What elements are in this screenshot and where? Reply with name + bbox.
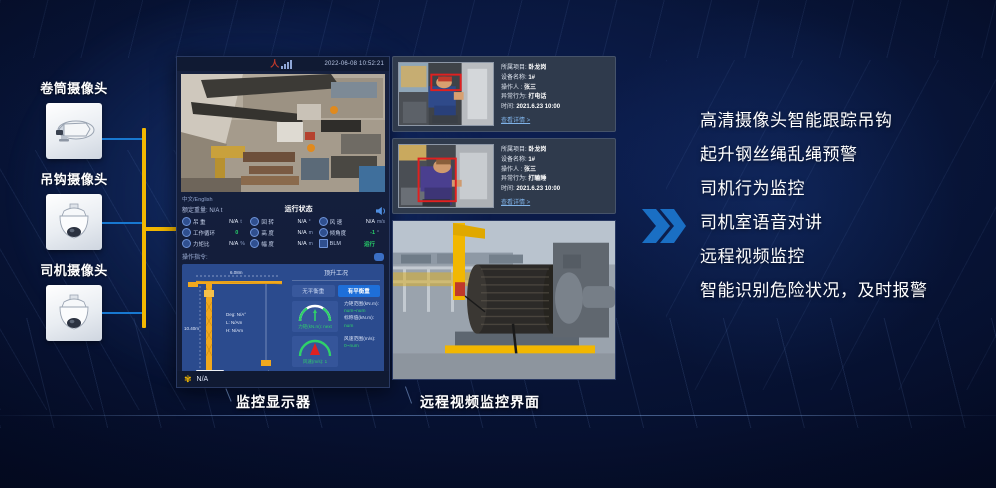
metric-unit: t: [240, 219, 247, 225]
alert-row-operator: 操作人 : 张三: [501, 84, 610, 94]
alert-row-project: 所属项目: 卧龙岗: [501, 64, 610, 74]
alert-info: 所属项目: 卧龙岗 设备名称: 1# 操作人 : 张三 异常行为: 打电话 时间…: [494, 62, 610, 126]
alert-label: 所属项目:: [501, 65, 527, 71]
amplitude-icon: [250, 239, 259, 248]
metric-unit: m: [309, 241, 316, 247]
alert-label: 设备名称:: [501, 75, 527, 81]
cycle-icon: [182, 228, 191, 237]
torque-gauge-caption: 力矩(kN.m): next: [298, 324, 332, 330]
metric-unit: m: [309, 230, 316, 236]
metric-label: 高 度: [261, 229, 274, 237]
tilt-icon: [319, 228, 328, 237]
alert-value: 卧龙岗: [528, 65, 546, 71]
alert-label: 操作人 :: [501, 85, 522, 91]
metric-item: 倾角度 -1 °: [319, 228, 384, 237]
wind-gauge-caption: 风速(m/s): 1: [303, 359, 327, 365]
footer-text: N/A: [197, 376, 209, 383]
rated-weight-value: N/A: [209, 208, 219, 214]
alert-value: 2021.6.23 10:00: [516, 104, 560, 110]
language-toggle[interactable]: 中文/English: [182, 195, 384, 203]
wind-gauge: 风速(m/s): 1: [292, 336, 338, 367]
wind-range-meta: 风速范围(m/s): 0~num: [341, 336, 380, 367]
camera-item-driver[interactable]: 司机摄像头: [18, 260, 130, 341]
metric-unit: %: [240, 241, 247, 247]
torque-range-meta: 力矩范围(kN.m): num~num 标称值(kN.m): num: [341, 301, 380, 332]
metric-label: 力矩比: [193, 240, 210, 248]
alert-row-behavior: 异常行为: 打电话: [501, 93, 610, 103]
alert-card[interactable]: 所属项目: 卧龙岗 设备名称: 1# 操作人 : 张三 异常行为: 打瞌睡 时间…: [392, 138, 616, 214]
height-label: 10.40m: [184, 326, 199, 331]
alert-label: 异常行为:: [501, 176, 527, 182]
cab-snapshot-phone[interactable]: [398, 62, 494, 126]
metric-label: BLM: [330, 241, 341, 247]
metric-value: 0: [235, 230, 238, 236]
background-grid-top: [0, 0, 996, 58]
dome-camera-icon: [46, 285, 102, 341]
monitor-statusbar: 人 2022-06-08 10:52:21: [177, 57, 389, 71]
alert-detail-link[interactable]: 查看详情 >: [501, 197, 610, 206]
height-value-label: H: N/Am: [226, 328, 243, 333]
metric-item: BLM 运行: [319, 239, 384, 248]
winch-drum-video[interactable]: [392, 220, 616, 380]
alert-label: 时间:: [501, 104, 515, 110]
connector-bus-horizontal: [142, 227, 178, 231]
cab-snapshot-drowsy[interactable]: [398, 144, 494, 208]
ratio-icon: [182, 239, 191, 248]
message-icon[interactable]: [374, 253, 384, 261]
person-icon: 人: [270, 60, 279, 69]
alert-label: 时间:: [501, 186, 515, 192]
metric-value: N/A: [229, 241, 238, 247]
metric-unit: m/s: [377, 219, 384, 225]
alert-label: 所属项目:: [501, 147, 527, 153]
metric-item: 回 转 N/A °: [250, 217, 315, 226]
hook-icon: [182, 217, 191, 226]
alert-row-device: 设备名称: 1#: [501, 156, 610, 166]
camera-title: 卷筒摄像头: [18, 78, 130, 97]
wind-gauge-row: 风速(m/s): 1 风速范围(m/s): 0~num: [292, 336, 380, 367]
connector-line-driver: [102, 312, 144, 314]
metric-label: 吊 重: [193, 218, 206, 226]
monitor-timestamp: 2022-06-08 10:52:21: [324, 61, 384, 67]
alert-value: 张三: [524, 167, 536, 173]
feature-item: 司机行为监控: [700, 180, 990, 197]
tab-no-counterweight[interactable]: 无平衡重: [292, 285, 335, 297]
feature-item: 智能识别危险状况，及时报警: [700, 282, 990, 299]
metric-item: 幅 度 N/A m: [250, 239, 315, 248]
gear-icon[interactable]: ✾: [184, 375, 192, 384]
alert-row-device: 设备名称: 1#: [501, 74, 610, 84]
wind-icon: [319, 217, 328, 226]
tab-with-counterweight[interactable]: 有平衡重: [338, 285, 381, 297]
alert-value: 张三: [524, 85, 536, 91]
metric-value: N/A: [297, 241, 306, 247]
wind-range-value: 0~num: [344, 343, 380, 350]
wind-range-title: 风速范围(m/s):: [344, 336, 380, 343]
alert-value: 1#: [528, 157, 535, 163]
metric-label: 工作循环: [193, 229, 215, 237]
alert-card[interactable]: 所属项目: 卧龙岗 设备名称: 1# 操作人 : 张三 异常行为: 打电话 时间…: [392, 56, 616, 132]
alert-value: 2021.6.23 10:00: [516, 186, 560, 192]
monitor-command-row: 操作指令:: [182, 252, 384, 261]
camera-item-hook[interactable]: 吊钩摄像头: [18, 169, 130, 250]
angle-icon: [250, 217, 259, 226]
torque-range-value: num~num: [344, 308, 380, 315]
metric-item: 风 速 N/A m/s: [319, 217, 384, 226]
site-camera-feed[interactable]: [181, 74, 385, 192]
double-chevron-right-icon: [640, 205, 686, 247]
alert-label: 异常行为:: [501, 94, 527, 100]
alert-label: 操作人 :: [501, 167, 522, 173]
span-label: 6.08m: [230, 270, 243, 275]
camera-title: 吊钩摄像头: [18, 169, 130, 188]
divider: [292, 280, 380, 281]
torque-range-title: 力矩范围(kN.m):: [344, 301, 380, 308]
monitor-subheader: 额定重量: N/A t 运行状态: [182, 204, 384, 214]
crane-schematic: 6.08m: [182, 264, 290, 382]
status-section-title: 运行状态: [285, 204, 313, 214]
monitor-status-panel: 中文/English 额定重量: N/A t 运行状态: [177, 192, 389, 248]
counterweight-tabs: 无平衡重 有平衡重: [292, 285, 380, 297]
scene: 卷筒摄像头 吊钩摄像头: [0, 0, 996, 488]
monitor-display[interactable]: 人 2022-06-08 10:52:21: [176, 56, 390, 388]
alert-row-project: 所属项目: 卧龙岗: [501, 146, 610, 156]
alert-detail-link[interactable]: 查看详情 >: [501, 115, 610, 124]
alert-label: 设备名称:: [501, 157, 527, 163]
speaker-icon[interactable]: [375, 206, 384, 213]
camera-item-drum[interactable]: 卷筒摄像头: [18, 78, 130, 159]
alert-value: 打电话: [528, 94, 546, 100]
blm-icon: [319, 239, 328, 248]
height-icon: [250, 228, 259, 237]
metric-item: 高 度 N/A m: [250, 228, 315, 237]
alert-row-behavior: 异常行为: 打瞌睡: [501, 175, 610, 185]
connector-line-hook: [102, 222, 144, 224]
metric-value: 运行: [364, 240, 375, 248]
rated-weight-unit: t: [221, 208, 223, 214]
rated-weight-label: 额定重量:: [182, 208, 208, 214]
caption-monitor: 监控显示器: [236, 392, 311, 412]
metric-item: 力矩比 N/A %: [182, 239, 247, 248]
metric-label: 倾角度: [330, 229, 347, 237]
metric-label: 回 转: [261, 218, 274, 226]
torque-gauge-row: 力矩(kN.m): next 力矩范围(kN.m): num~num 标称值(k…: [292, 301, 380, 332]
torque-nominal-value: num: [344, 323, 380, 330]
feature-item: 高清摄像头智能跟踪吊钩: [700, 112, 990, 129]
metric-value: N/A: [297, 230, 306, 236]
metric-value: N/A: [366, 219, 375, 225]
feature-item: 起升钢丝绳乱绳预警: [700, 146, 990, 163]
dome-camera-icon: [46, 194, 102, 250]
alert-row-time: 时间: 2021.6.23 10:00: [501, 185, 610, 195]
torque-gauge: 力矩(kN.m): next: [292, 301, 338, 332]
box-camera-icon: [46, 103, 102, 159]
feature-item: 远程视频监控: [700, 248, 990, 265]
caption-remote: 远程视频监控界面: [420, 392, 540, 412]
background-horizon-line: [0, 415, 996, 416]
feature-list: 高清摄像头智能跟踪吊钩 起升钢丝绳乱绳预警 司机行为监控 司机室语音对讲 远程视…: [700, 112, 990, 316]
alert-row-time: 时间: 2021.6.23 10:00: [501, 103, 610, 113]
length-label: L: N/Am: [226, 320, 243, 325]
crane-diagram-panel[interactable]: 6.08m: [182, 264, 384, 382]
alert-value: 打瞌睡: [528, 176, 546, 182]
lifting-condition-panel: 顶升工况 无平衡重 有平衡重 力矩(: [290, 264, 384, 382]
metric-item: 吊 重 N/A t: [182, 217, 247, 226]
feature-item: 司机室语音对讲: [700, 214, 990, 231]
camera-list: 卷筒摄像头 吊钩摄像头: [18, 78, 130, 351]
alert-value: 卧龙岗: [528, 147, 546, 153]
alert-row-operator: 操作人 : 张三: [501, 166, 610, 176]
command-label: 操作指令:: [182, 252, 208, 261]
lifting-panel-title: 顶升工况: [292, 268, 380, 277]
alert-info: 所属项目: 卧龙岗 设备名称: 1# 操作人 : 张三 异常行为: 打瞌睡 时间…: [494, 144, 610, 208]
metric-unit: °: [377, 230, 384, 236]
deg-label: Deg: N/A°: [226, 312, 246, 317]
metric-item: 工作循环 0: [182, 228, 247, 237]
alert-value: 1#: [528, 75, 535, 81]
metric-value: N/A: [297, 219, 306, 225]
connector-line-drum: [102, 138, 144, 140]
signal-bars-icon: [281, 60, 292, 69]
monitor-footer: ✾ N/A: [177, 371, 389, 387]
metric-value: -1: [370, 230, 375, 236]
torque-nominal-title: 标称值(kN.m):: [344, 315, 380, 322]
metric-label: 幅 度: [261, 240, 274, 248]
metric-label: 风 速: [330, 218, 343, 226]
rated-weight: 额定重量: N/A t: [182, 205, 222, 214]
metric-unit: °: [309, 219, 316, 225]
remote-monitoring-panel: 所属项目: 卧龙岗 设备名称: 1# 操作人 : 张三 异常行为: 打电话 时间…: [392, 56, 616, 386]
metric-grid: 吊 重 N/A t 回 转 N/A ° 风 速 N/A m/s: [182, 217, 384, 248]
camera-title: 司机摄像头: [18, 260, 130, 279]
metric-value: N/A: [229, 219, 238, 225]
